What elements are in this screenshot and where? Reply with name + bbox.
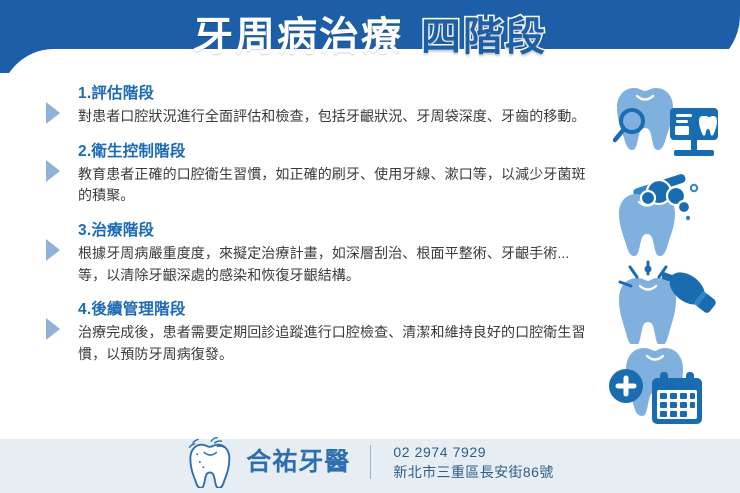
illustration-slot-2 xyxy=(604,168,736,256)
triangle-arrow-icon xyxy=(46,160,60,182)
step-item-4: 4.後續管理階段 治療完成後，患者需要定期回診追蹤進行口腔檢查、清潔和維持良好的… xyxy=(46,300,591,365)
illustration-slot-1 xyxy=(604,80,736,168)
footer-divider xyxy=(370,445,371,479)
step-item-1: 1.評估階段 對患者口腔狀況進行全面評估和檢查，包括牙齦狀況、牙周袋深度、牙齒的… xyxy=(46,84,591,128)
step-body-1: 對患者口腔狀況進行全面評估和檢查，包括牙齦狀況、牙周袋深度、牙齒的移動。 xyxy=(78,106,591,128)
tooth-toothbrush-foam-icon xyxy=(604,168,736,256)
illustration-slot-4 xyxy=(604,344,736,432)
footer-contact: 02 2974 7929 新北市三重區長安街86號 xyxy=(393,444,553,481)
illustration-column xyxy=(604,80,736,432)
step-body-3: 根據牙周病嚴重度度，來擬定治療計畫，如深層刮治、根面平整術、牙齦手術...等，以… xyxy=(78,243,591,286)
triangle-arrow-icon xyxy=(46,102,60,124)
illustration-slot-3 xyxy=(604,256,736,344)
tooth-outline-logo-icon xyxy=(186,436,238,488)
step-body-4: 治療完成後，患者需要定期回診追蹤進行口腔檢查、清潔和維持良好的口腔衛生習慣，以預… xyxy=(78,322,591,365)
step-title-3: 3.治療階段 xyxy=(78,221,591,242)
tooth-magnifier-monitor-icon xyxy=(604,80,736,168)
step-item-3: 3.治療階段 根據牙周病嚴重度度，來擬定治療計畫，如深層刮治、根面平整術、牙齦手… xyxy=(46,221,591,286)
clinic-address: 新北市三重區長安街86號 xyxy=(393,464,553,481)
triangle-arrow-icon xyxy=(46,239,60,261)
infographic-root: 牙周病治療 四階段 1.評估階段 對患者口腔狀況進行全面評估和檢查，包括牙齦狀況… xyxy=(0,0,740,493)
tooth-dental-handpiece-icon xyxy=(604,256,736,344)
tooth-plus-calendar-icon xyxy=(604,344,736,432)
triangle-arrow-icon xyxy=(46,318,60,340)
clinic-phone: 02 2974 7929 xyxy=(393,444,553,461)
clinic-name: 合祐牙醫 xyxy=(246,450,350,475)
step-body-2: 教育患者正確的口腔衛生習慣，如正確的刷牙、使用牙線、漱口等，以減少牙菌斑的積聚。 xyxy=(78,164,591,207)
step-title-2: 2.衛生控制階段 xyxy=(78,142,591,163)
step-title-4: 4.後續管理階段 xyxy=(78,300,591,321)
step-title-1: 1.評估階段 xyxy=(78,84,591,105)
steps-list: 1.評估階段 對患者口腔狀況進行全面評估和檢查，包括牙齦狀況、牙周袋深度、牙齒的… xyxy=(46,84,591,380)
step-item-2: 2.衛生控制階段 教育患者正確的口腔衛生習慣，如正確的刷牙、使用牙線、漱口等，以… xyxy=(46,142,591,207)
footer: 合祐牙醫 02 2974 7929 新北市三重區長安街86號 xyxy=(0,431,740,493)
